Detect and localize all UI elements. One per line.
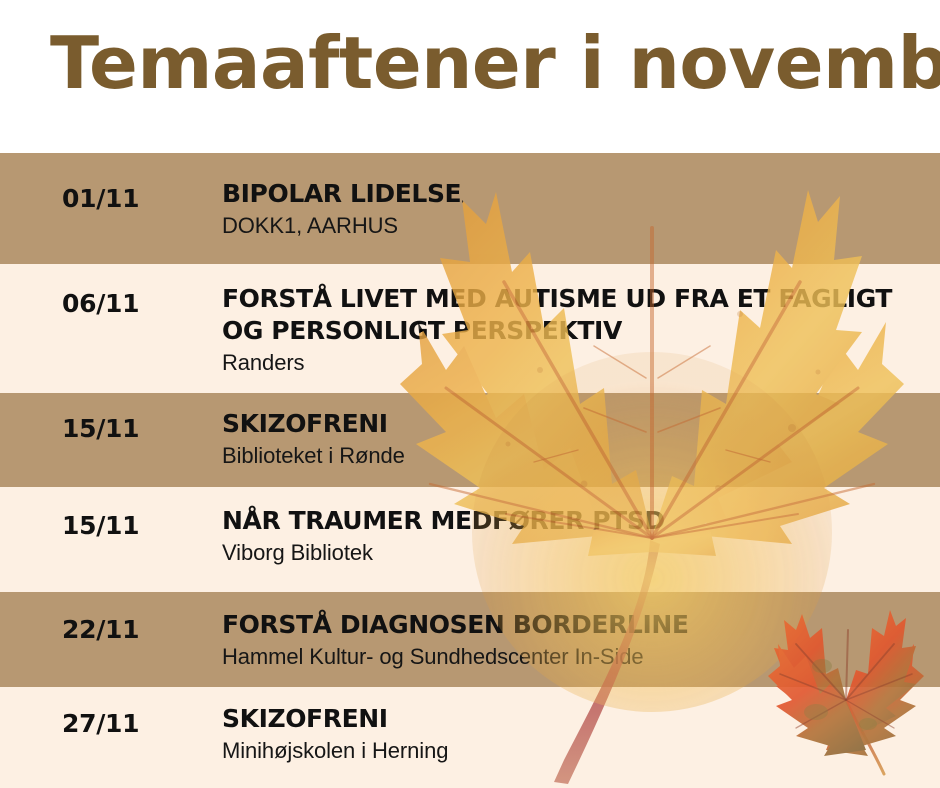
event-venue: Randers <box>222 349 930 377</box>
event-venue: DOKK1, AARHUS <box>222 212 930 240</box>
poster-canvas: 01/11 BIPOLAR LIDELSE DOKK1, AARHUS 06/1… <box>0 0 940 788</box>
event-title: NÅR TRAUMER MEDFØRER PTSD <box>222 505 930 537</box>
event-venue: Viborg Bibliotek <box>222 539 930 567</box>
event-venue: Biblioteket i Rønde <box>222 442 930 470</box>
event-date: 15/11 <box>62 414 139 443</box>
event-row: 06/11 FORSTÅ LIVET MED AUTISME UD FRA ET… <box>0 264 940 393</box>
event-row: 15/11 SKIZOFRENI Biblioteket i Rønde <box>0 393 940 487</box>
event-body: FORSTÅ DIAGNOSEN BORDERLINE Hammel Kultu… <box>222 609 930 671</box>
event-body: NÅR TRAUMER MEDFØRER PTSD Viborg Bibliot… <box>222 505 930 567</box>
event-body: SKIZOFRENI Biblioteket i Rønde <box>222 408 930 470</box>
event-title: SKIZOFRENI <box>222 703 930 735</box>
event-body: FORSTÅ LIVET MED AUTISME UD FRA ET FAGLI… <box>222 283 930 377</box>
event-title: FORSTÅ LIVET MED AUTISME UD FRA ET FAGLI… <box>222 283 930 347</box>
page-title: Temaaftener i november <box>50 26 940 102</box>
event-body: SKIZOFRENI Minihøjskolen i Herning <box>222 703 930 765</box>
event-date: 15/11 <box>62 511 139 540</box>
event-date: 01/11 <box>62 184 139 213</box>
poster-header: Temaaftener i november <box>0 0 940 153</box>
event-title: FORSTÅ DIAGNOSEN BORDERLINE <box>222 609 930 641</box>
event-date: 22/11 <box>62 615 139 644</box>
event-row: 01/11 BIPOLAR LIDELSE DOKK1, AARHUS <box>0 153 940 264</box>
event-title: SKIZOFRENI <box>222 408 930 440</box>
event-row: 22/11 FORSTÅ DIAGNOSEN BORDERLINE Hammel… <box>0 592 940 687</box>
event-body: BIPOLAR LIDELSE DOKK1, AARHUS <box>222 178 930 240</box>
event-date: 27/11 <box>62 709 139 738</box>
event-date: 06/11 <box>62 289 139 318</box>
event-row: 15/11 NÅR TRAUMER MEDFØRER PTSD Viborg B… <box>0 487 940 592</box>
event-row: 27/11 SKIZOFRENI Minihøjskolen i Herning <box>0 687 940 788</box>
event-venue: Hammel Kultur- og Sundhedscenter In-Side <box>222 643 930 671</box>
event-title: BIPOLAR LIDELSE <box>222 178 930 210</box>
event-venue: Minihøjskolen i Herning <box>222 737 930 765</box>
